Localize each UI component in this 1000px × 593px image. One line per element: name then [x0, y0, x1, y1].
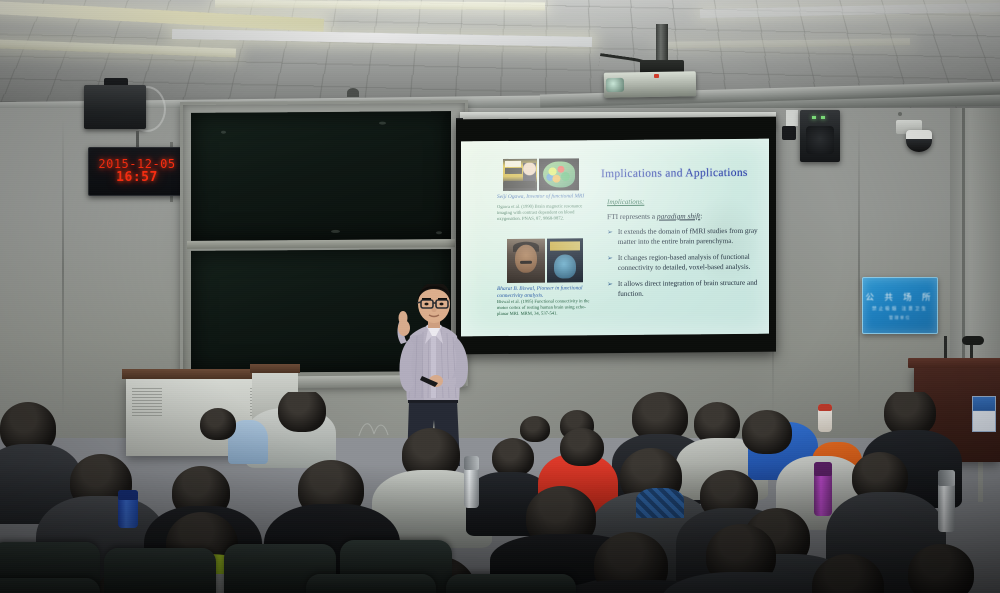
seat-back [446, 574, 576, 593]
speaker-cable-box [782, 126, 796, 140]
audience-person-head [908, 544, 974, 593]
bullet-arrow-icon: ➢ [607, 228, 613, 247]
presentation-slide: Seiji Ogawa, Inventor of functional MRI … [461, 139, 769, 337]
camera-anchor-screw [898, 112, 902, 116]
seat-back [0, 578, 100, 593]
sign-title: 公 共 场 所 [865, 291, 934, 303]
audience-person-head [560, 428, 604, 466]
clock-time: 16:57 [116, 171, 158, 185]
led-wall-clock: 2015-12-05 16:57 [88, 147, 186, 196]
audience-person-head [492, 438, 534, 476]
lead-prefix: FTI represents a [607, 212, 657, 221]
microphone-head-icon [962, 336, 984, 345]
lectern-top [908, 358, 1000, 368]
brain-activation-map-image [539, 158, 579, 190]
slide-image-row-top [503, 158, 579, 191]
ceiling-mount-bracket [347, 88, 359, 97]
blue-notice-sign: 公 共 场 所 禁止吸烟 注意卫生 管理单位 [862, 277, 938, 334]
slide-section-label: Implications: [607, 198, 644, 206]
paper-cup [818, 404, 832, 432]
speaker-bracket-right [786, 110, 798, 126]
projector-lens-icon [606, 78, 624, 92]
magazine-cover-image [503, 159, 537, 191]
slide-title: Implications and Applications [601, 167, 748, 180]
steel-thermos-bottle [938, 470, 955, 532]
lecture-hall-photo: 2015-12-05 16:57 Seiji Ogawa, [0, 0, 1000, 593]
speaker-signal-led [821, 116, 825, 119]
slide-image-row-bottom [507, 238, 583, 283]
wall-speaker-left [84, 85, 146, 129]
plaid-scarf [636, 488, 684, 518]
clock-mount-stem [136, 131, 139, 148]
speaker-cone-icon [806, 126, 834, 154]
speaker-power-led [812, 116, 816, 119]
slide-caption-2-reference: Biswal et al. (1995) Functional connecti… [497, 298, 597, 316]
sign-line-3: 管理单位 [889, 315, 911, 321]
blue-travel-mug [118, 490, 138, 528]
bullet-arrow-icon: ➢ [607, 254, 613, 273]
slide-caption-1: Seiji Ogawa, Inventor of functional MRI [497, 193, 593, 201]
bullet-arrow-icon: ➢ [607, 280, 613, 299]
wall-speaker-right [800, 110, 840, 162]
projection-screen: Seiji Ogawa, Inventor of functional MRI … [456, 117, 776, 355]
blackboard-slide-rail [187, 239, 455, 249]
audience-person-head [742, 410, 792, 454]
dome-security-camera [906, 130, 932, 152]
slide-lead-line: FTI represents a paradigm shift: [607, 211, 702, 221]
researcher-portrait-image [507, 239, 545, 283]
audience-person-head [278, 392, 326, 432]
audience-person-head [520, 416, 550, 442]
journal-cover-image [547, 238, 583, 282]
blackboard-panel-upper [191, 111, 451, 241]
projector-status-led [654, 74, 659, 78]
slide-caption-1-reference: Ogawa et al. (1990) Brain magnetic reson… [497, 203, 593, 221]
steel-thermos-bottle [464, 456, 479, 508]
wall-seam [62, 118, 64, 418]
bullet-text: It allows direct integration of brain st… [618, 279, 762, 299]
wall-seam [858, 118, 860, 418]
sign-line-2: 禁止吸烟 注意卫生 [872, 306, 928, 312]
seat-back [306, 574, 436, 593]
lectern-top-trim [250, 364, 300, 373]
audience-person-head [200, 408, 236, 440]
seat-back [104, 548, 216, 593]
chalk-smudge [436, 231, 442, 234]
chalk-smudge [221, 131, 226, 134]
purple-water-bottle [814, 462, 832, 516]
audience [0, 392, 1000, 593]
